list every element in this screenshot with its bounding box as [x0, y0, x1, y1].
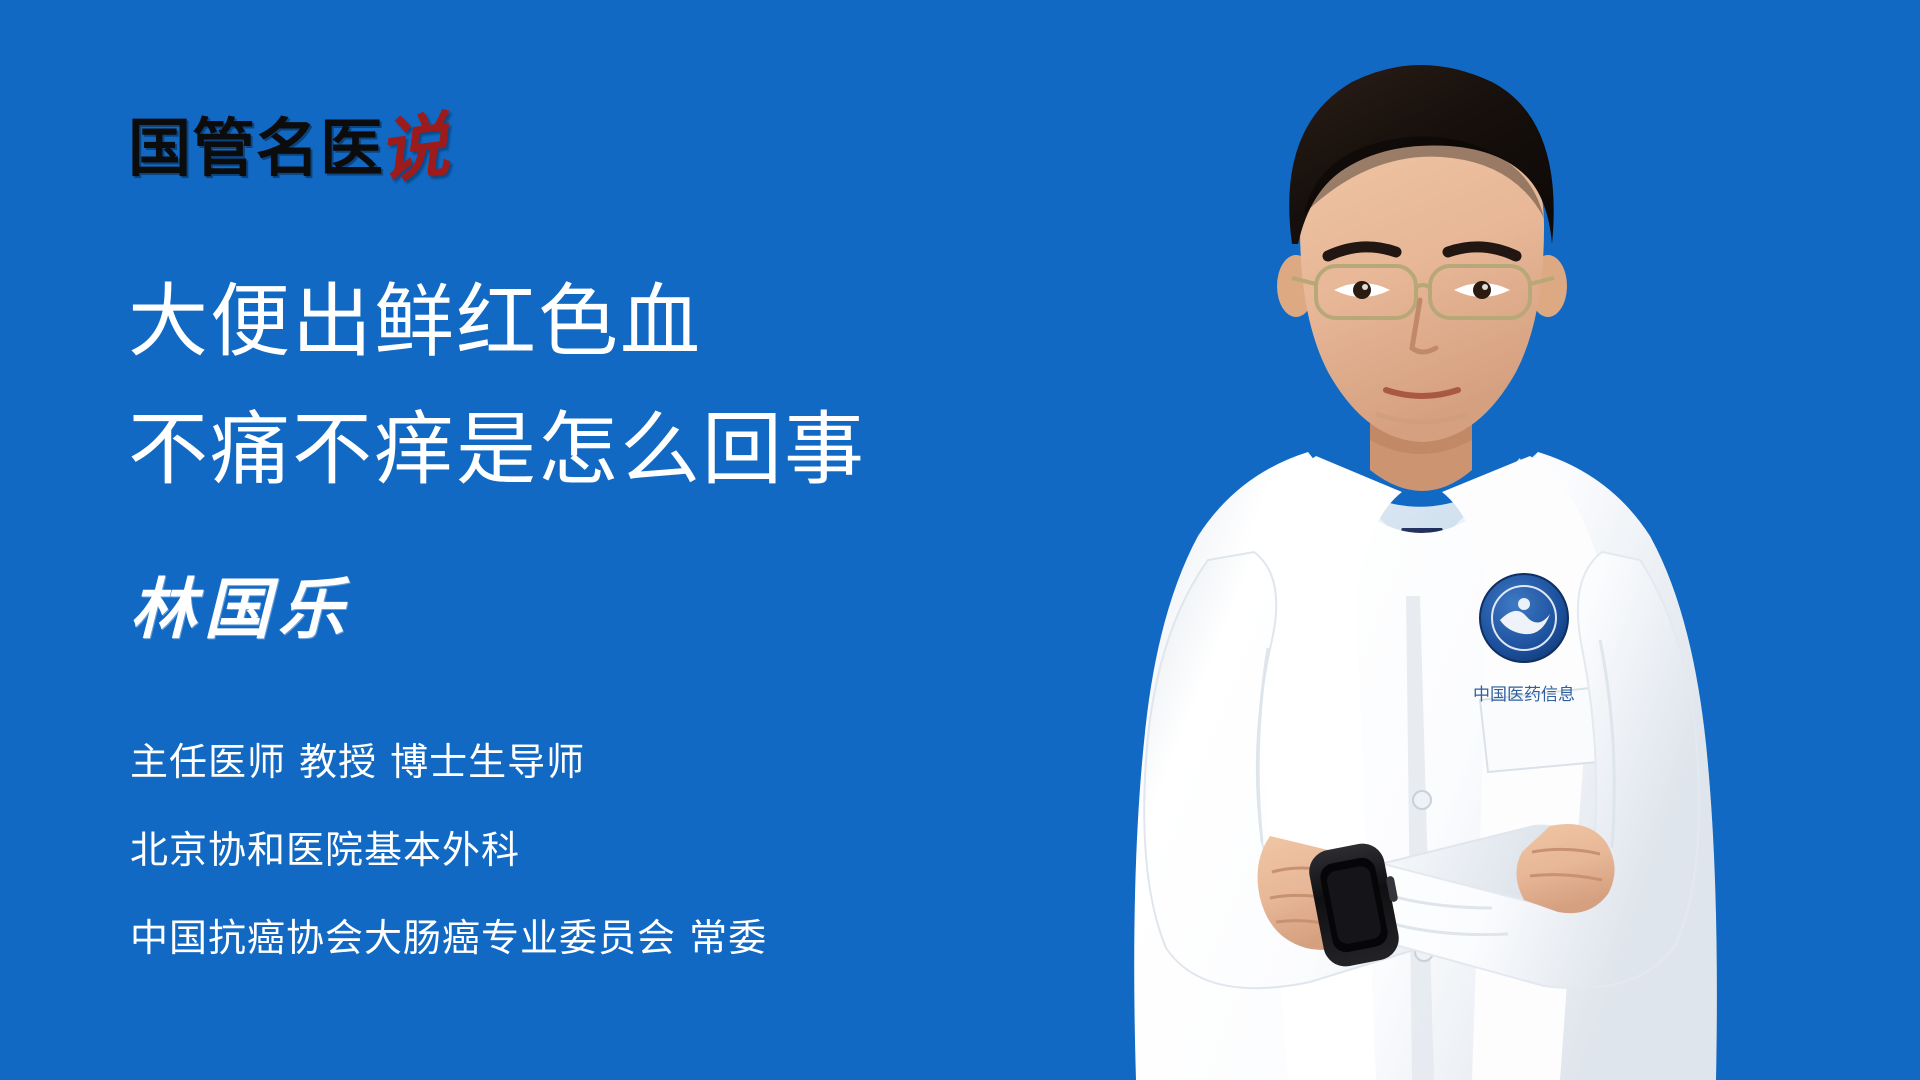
- doctor-portrait-illustration: 中国医药信息: [1120, 0, 1920, 1080]
- program-logo: 国管名医 说: [128, 96, 448, 180]
- title-line-1: 大便出鲜红色血: [128, 258, 866, 386]
- doctor-credentials: 主任医师 教授 博士生导师 北京协和医院基本外科 中国抗癌协会大肠癌专业委员会 …: [130, 718, 767, 982]
- badge-caption-text: 中国医药信息: [1473, 685, 1575, 705]
- program-logo-accent-text: 说: [374, 110, 452, 188]
- credential-line-2: 北京协和医院基本外科: [130, 806, 767, 894]
- poster-title: 大便出鲜红色血 不痛不痒是怎么回事: [128, 258, 866, 514]
- title-line-2: 不痛不痒是怎么回事: [128, 386, 866, 514]
- poster-canvas: 国管名医 说 大便出鲜红色血 不痛不痒是怎么回事 林国乐 主任医师 教授 博士生…: [0, 0, 1920, 1080]
- doctor-name: 林国乐: [130, 576, 352, 642]
- doctor-portrait-photo: 中国医药信息: [1120, 0, 1920, 1080]
- program-logo-main-text: 国管名医: [128, 117, 384, 180]
- credential-line-3: 中国抗癌协会大肠癌专业委员会 常委: [130, 894, 767, 982]
- hospital-emblem-badge: [1480, 574, 1568, 662]
- credential-line-1: 主任医师 教授 博士生导师: [130, 718, 767, 806]
